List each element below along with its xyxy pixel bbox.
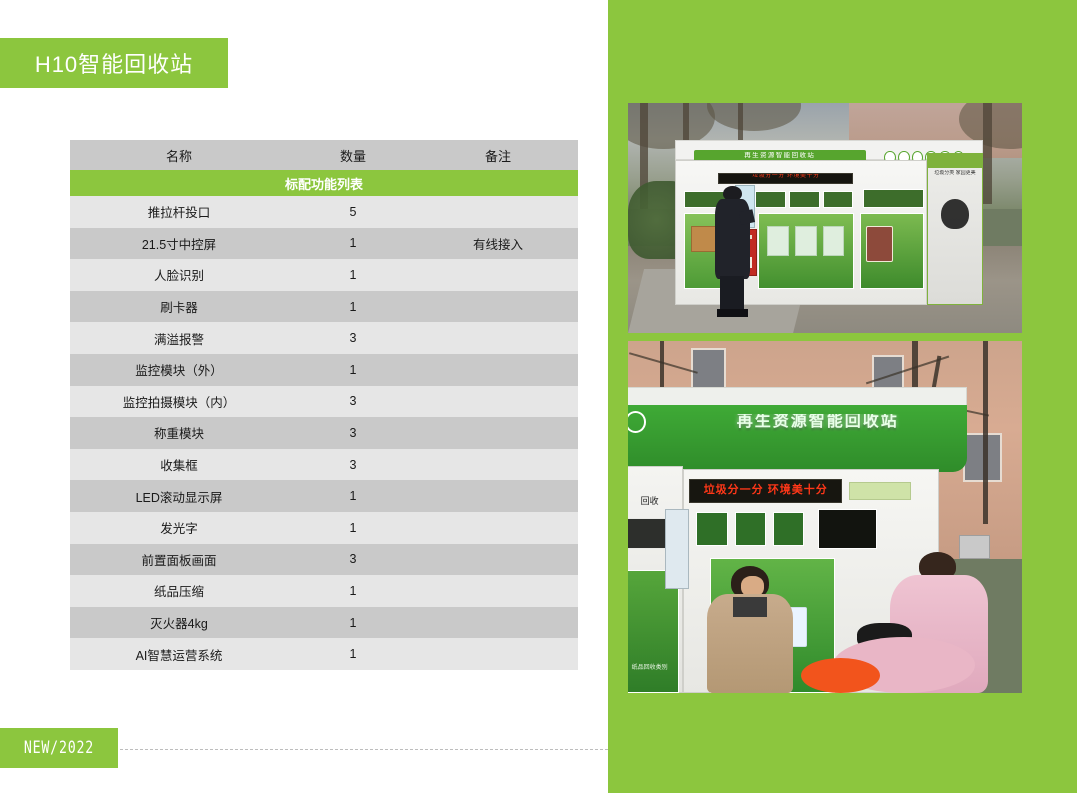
cell-quantity: 3	[288, 449, 418, 481]
table-header-row: 名称 数量 备注	[70, 140, 578, 170]
cell-name: 纸品压缩	[70, 575, 288, 607]
column-header-note: 备注	[418, 140, 578, 170]
recyclable-bundle	[801, 658, 880, 693]
bottle-graphic	[823, 226, 845, 256]
person-scarf	[733, 597, 768, 617]
table-row: 监控模块（外） 1	[70, 354, 578, 386]
kiosk-service-door	[665, 509, 689, 589]
cell-note	[418, 259, 578, 291]
cell-quantity: 1	[288, 512, 418, 544]
cell-name: 灭火器4kg	[70, 607, 288, 639]
person-arm	[739, 209, 756, 225]
footer-badge-label: NEW/2022	[24, 738, 94, 758]
cell-quantity: 1	[288, 638, 418, 670]
photo-bottom-artwork: 再生资源智能回收站 回收 纸品回收类别 垃圾分一分 环境美十分	[628, 341, 1022, 693]
table-row: 满溢报警 3	[70, 322, 578, 354]
table-row: 人脸识别 1	[70, 259, 578, 291]
cell-quantity: 5	[288, 196, 418, 228]
footer-badge: NEW/2022	[0, 728, 118, 768]
cell-note: 有线接入	[418, 228, 578, 260]
table-body: 推拉杆投口 5 21.5寸中控屏 1 有线接入 人脸识别 1 刷卡器 1 满溢报…	[70, 196, 578, 670]
table-row: 纸品压缩 1	[70, 575, 578, 607]
cell-note	[418, 575, 578, 607]
table-row: AI智慧运营系统 1	[70, 638, 578, 670]
cell-name: 发光字	[70, 512, 288, 544]
table-row: 灭火器4kg 1	[70, 607, 578, 639]
cell-name: 监控拍摄模块（内）	[70, 386, 288, 418]
bottle-graphic	[795, 226, 817, 256]
cell-quantity: 3	[288, 544, 418, 576]
table-caption: 标配功能列表	[70, 170, 578, 196]
cell-note	[418, 386, 578, 418]
table-caption-row: 标配功能列表	[70, 170, 578, 196]
cell-name: 称重模块	[70, 417, 288, 449]
table-row: 称重模块 3	[70, 417, 578, 449]
kiosk-banner-text: 再生资源智能回收站	[703, 414, 932, 454]
kiosk-led-text: 垃圾分一分 环境美十分	[691, 482, 840, 500]
cell-name: 满溢报警	[70, 322, 288, 354]
deposit-hatch	[789, 191, 820, 208]
slide-title-banner: H10智能回收站	[0, 38, 228, 88]
cell-name: 刷卡器	[70, 291, 288, 323]
deposit-hatch	[696, 512, 727, 546]
cell-name: 监控模块（外）	[70, 354, 288, 386]
cell-quantity: 1	[288, 291, 418, 323]
cell-note	[418, 449, 578, 481]
cell-note	[418, 354, 578, 386]
table-row: 发光字 1	[70, 512, 578, 544]
tree-trunk	[983, 103, 992, 204]
cell-name: LED滚动显示屏	[70, 480, 288, 512]
deposit-hatch	[863, 189, 924, 207]
table-row: 刷卡器 1	[70, 291, 578, 323]
cell-quantity: 3	[288, 386, 418, 418]
cell-name: 推拉杆投口	[70, 196, 288, 228]
cell-quantity: 1	[288, 259, 418, 291]
column-header-name: 名称	[70, 140, 288, 170]
kiosk-led-text: 垃圾分一分 环境美十分	[720, 174, 852, 183]
tree-branch	[983, 341, 989, 524]
kiosk-side-notice	[849, 482, 911, 500]
bottle-graphic	[767, 226, 789, 256]
standard-function-table: 标配功能列表 名称 数量 备注 推拉杆投口 5 21.5寸中控屏 1 有线接入 …	[70, 140, 578, 670]
person-left	[707, 566, 794, 693]
person-shoes	[717, 309, 748, 317]
cell-note	[418, 196, 578, 228]
table-row: 推拉杆投口 5	[70, 196, 578, 228]
page-title: H10智能回收站	[35, 47, 193, 79]
cell-note	[418, 607, 578, 639]
cell-quantity: 3	[288, 322, 418, 354]
cell-name: AI智慧运营系统	[70, 638, 288, 670]
cell-name: 收集框	[70, 449, 288, 481]
deposit-hatch	[755, 191, 786, 208]
table-row: LED滚动显示屏 1	[70, 480, 578, 512]
cell-note	[418, 291, 578, 323]
cell-note	[418, 544, 578, 576]
kiosk-banner-text: 再生资源智能回收站	[700, 152, 860, 165]
deposit-hatch-open	[818, 509, 877, 549]
cell-note	[418, 638, 578, 670]
kiosk-left-panel-text: 纸品回收类别	[628, 662, 677, 680]
cell-note	[418, 480, 578, 512]
building-window	[691, 348, 726, 390]
recycle-leaf-logo	[941, 199, 969, 229]
column-header-quantity: 数量	[288, 140, 418, 170]
photo-top-artwork: 再生资源智能回收站 垃圾分一分 环境美十分 垃圾分类 家园更美	[628, 103, 1022, 333]
deposit-hatch	[735, 512, 766, 546]
photo-recycling-station-closeup: 再生资源智能回收站 回收 纸品回收类别 垃圾分一分 环境美十分	[628, 341, 1022, 693]
footer-divider	[120, 749, 608, 750]
person-using-kiosk	[715, 186, 750, 315]
cell-note	[418, 322, 578, 354]
table-row: 前置面板画面 3	[70, 544, 578, 576]
table-row: 监控拍摄模块（内） 3	[70, 386, 578, 418]
cell-note	[418, 417, 578, 449]
deposit-hatch	[773, 512, 804, 546]
cell-quantity: 1	[288, 575, 418, 607]
table-row: 21.5寸中控屏 1 有线接入	[70, 228, 578, 260]
cell-name: 人脸识别	[70, 259, 288, 291]
cell-quantity: 1	[288, 607, 418, 639]
cell-quantity: 1	[288, 480, 418, 512]
cell-quantity: 3	[288, 417, 418, 449]
kiosk-side-text: 垃圾分类 家园更美	[930, 170, 979, 180]
cell-quantity: 1	[288, 354, 418, 386]
table-row: 收集框 3	[70, 449, 578, 481]
cell-quantity: 1	[288, 228, 418, 260]
cell-name: 21.5寸中控屏	[70, 228, 288, 260]
textile-graphic	[866, 226, 894, 262]
photo-recycling-station-wide: 再生资源智能回收站 垃圾分一分 环境美十分 垃圾分类 家园更美	[628, 103, 1022, 333]
cell-name: 前置面板画面	[70, 544, 288, 576]
kiosk-side-top-band	[927, 153, 982, 168]
cell-note	[418, 512, 578, 544]
deposit-hatch	[823, 191, 854, 208]
